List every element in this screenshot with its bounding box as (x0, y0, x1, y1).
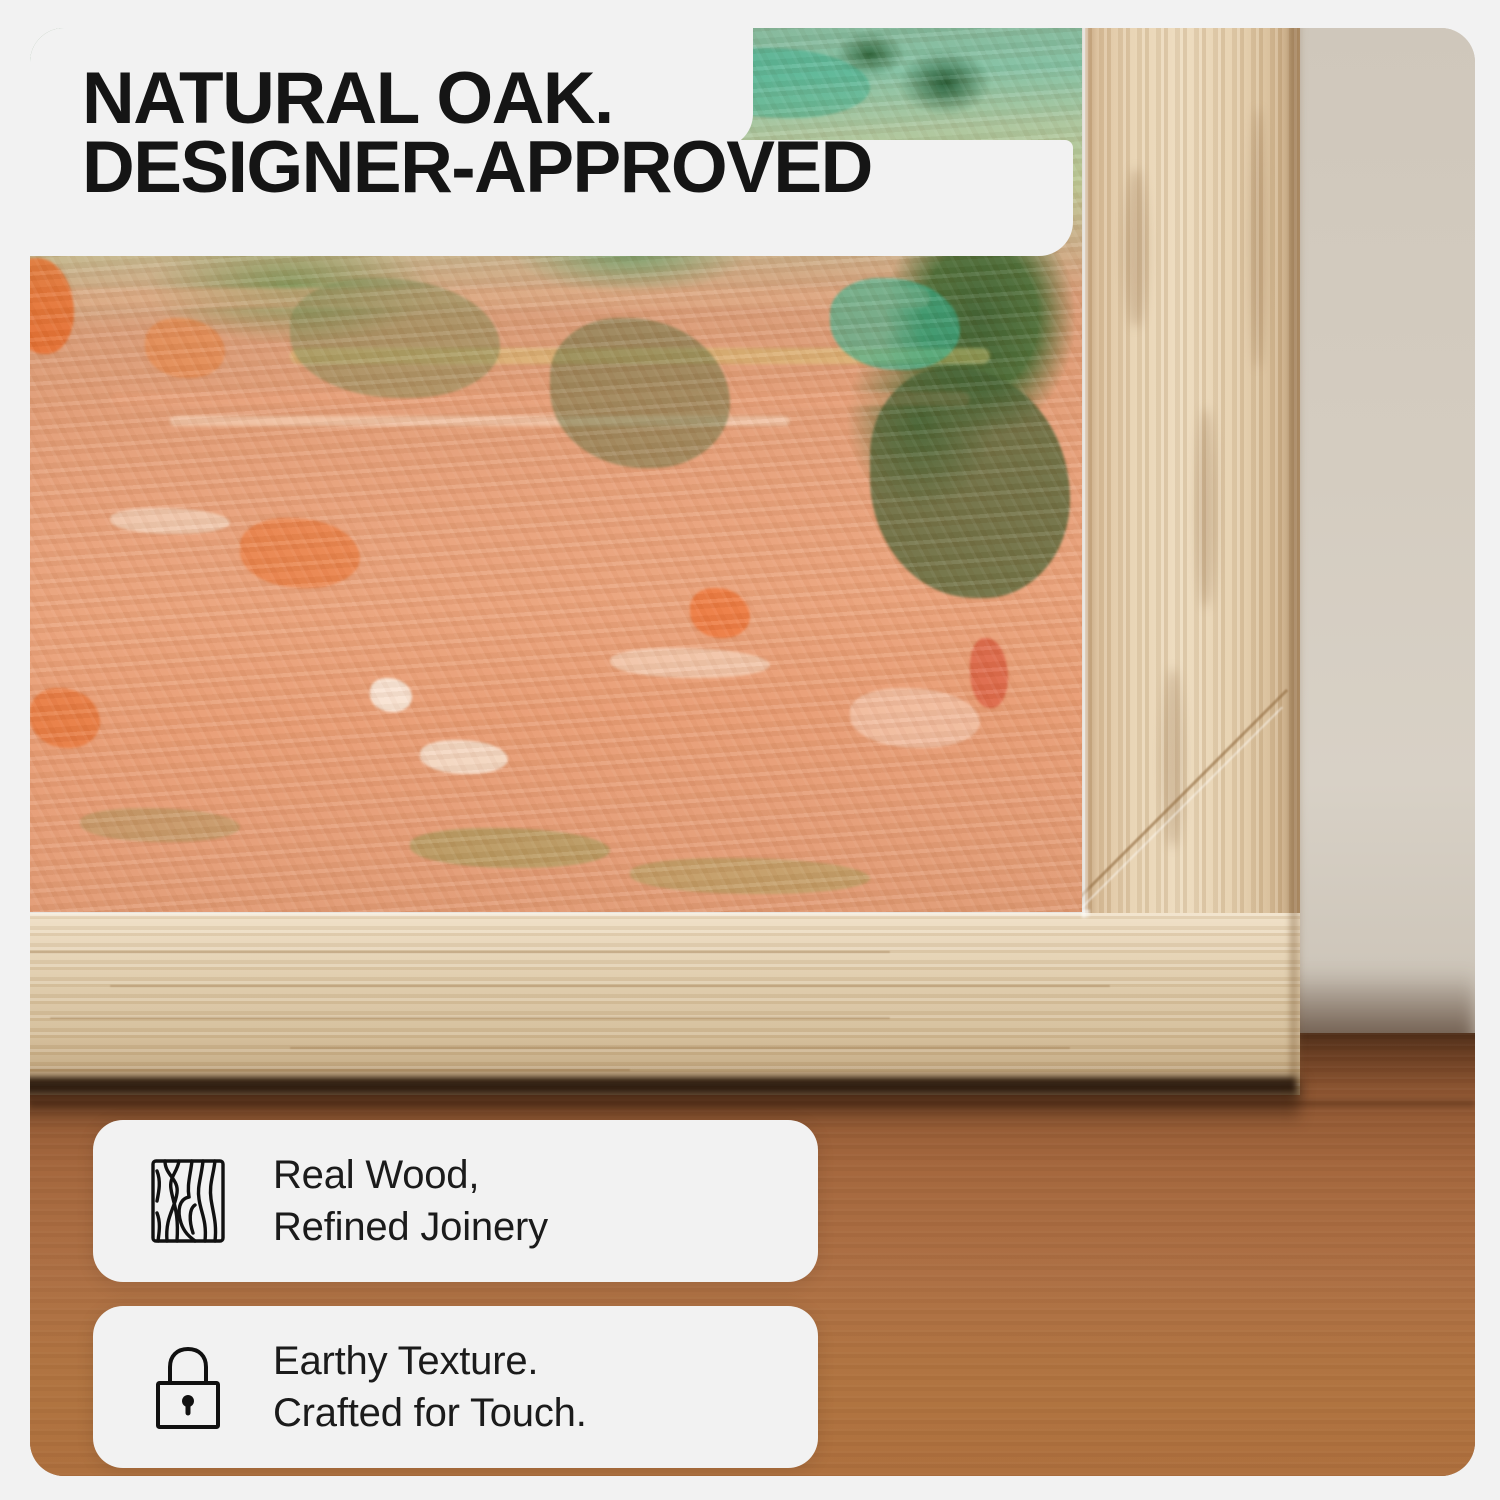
page-title: NATURAL OAK. DESIGNER-APPROVED (82, 64, 1092, 203)
wood-grain-icon (145, 1155, 231, 1247)
feature-badge-earthy-texture: Earthy Texture. Crafted for Touch. (93, 1306, 818, 1468)
feature-badge-real-wood: Real Wood, Refined Joinery (93, 1120, 818, 1282)
product-photo: NATURAL OAK. DESIGNER-APPROVED Real (30, 28, 1475, 1476)
frame-right-stile (1085, 28, 1300, 988)
padlock-icon (145, 1341, 231, 1433)
frame-outer-edge (1290, 28, 1304, 1098)
headline-overlay: NATURAL OAK. DESIGNER-APPROVED (30, 28, 1090, 256)
frame-bottom-rail (30, 913, 1300, 1095)
product-marketing-image: NATURAL OAK. DESIGNER-APPROVED Real (0, 0, 1500, 1500)
badge-label: Real Wood, Refined Joinery (273, 1149, 548, 1253)
badge-label: Earthy Texture. Crafted for Touch. (273, 1335, 587, 1439)
